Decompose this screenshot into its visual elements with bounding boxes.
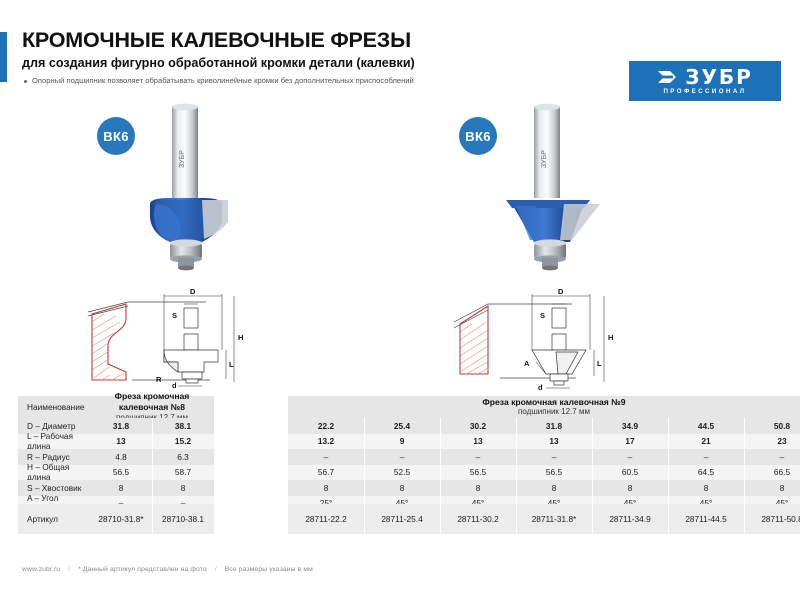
column-separator-right-2 [440,418,441,511]
footer-site[interactable]: www.zubr.ru [22,566,60,573]
svg-text:L: L [229,360,234,369]
badge-material-right: ВК6 [459,117,497,155]
cell-right-H-1: 52.5 [364,465,440,481]
svg-text:S: S [540,311,545,320]
badge-material-left: ВК6 [97,117,135,155]
cell-right-H-2: 56.5 [440,465,516,481]
footer-separator-2: / [215,566,217,573]
cell-right-S-6: 8 [744,480,800,496]
page-subtitle: для создания фигурно обработанной кромки… [22,56,415,70]
cell-left-article-1: 28710-38.1 [152,504,214,534]
cell-left-R-1: 6.3 [152,449,214,465]
cell-right-article-4: 28711-34.9 [592,504,668,534]
svg-text:d: d [172,381,177,390]
cell-right-article-2: 28711-30.2 [440,504,516,534]
column-separator-right-3 [516,418,517,511]
cell-right-L-6: 23 [744,434,800,450]
product-photo-chamfer: ЗУБР [472,100,642,290]
cell-right-H-5: 64.5 [668,465,744,481]
product-photo-roundover: ЗУБР [110,100,270,290]
column-separator-right-5 [668,418,669,511]
svg-text:ЗУБР: ЗУБР [541,150,548,168]
cell-right-L-0: 13.2 [288,434,364,450]
cell-right-article-6: 28711-50.8 [744,504,800,534]
cell-right-H-3: 56.5 [516,465,592,481]
row-label-article: Артикул [18,504,90,534]
cell-right-D-2: 30.2 [440,418,516,434]
cell-right-D-1: 25.4 [364,418,440,434]
column-separator-article-left-1 [152,504,153,534]
svg-text:A: A [524,359,530,368]
cell-left-H-1: 58.7 [152,465,214,481]
row-label-H: H – Общая длина [18,465,90,481]
cell-right-R-2: – [440,449,516,465]
cell-right-R-0: – [288,449,364,465]
cell-right-H-6: 66.5 [744,465,800,481]
column-separator-right-4 [592,418,593,511]
table-label-header: Наименование [18,396,90,418]
cell-right-D-4: 34.9 [592,418,668,434]
group-title-right: Фреза кромочная калевочная №9 [482,397,625,408]
cell-right-article-1: 28711-25.4 [364,504,440,534]
cell-left-L-1: 15.2 [152,434,214,450]
cell-right-S-2: 8 [440,480,516,496]
svg-text:H: H [608,333,613,342]
column-separator-article-right-3 [516,504,517,534]
cell-left-D-0: 31.8 [90,418,152,434]
feature-bullet: Опорный подшипник позволяет обрабатывать… [24,76,414,85]
page-header: КРОМОЧНЫЕ КАЛЕВОЧНЫЕ ФРЕЗЫ для создания … [0,28,800,90]
cell-right-D-5: 44.5 [668,418,744,434]
column-separator-article-right-6 [744,504,745,534]
cell-right-L-4: 17 [592,434,668,450]
logo-main-row: ЗУБР [657,67,753,87]
brand-logo: ЗУБР ПРОФЕССИОНАЛ [629,61,781,101]
cell-right-H-4: 60.5 [592,465,668,481]
cell-right-L-1: 9 [364,434,440,450]
cell-right-L-3: 13 [516,434,592,450]
cell-left-S-0: 8 [90,480,152,496]
svg-text:ЗУБР: ЗУБР [179,150,186,168]
logo-arrow-icon [657,67,679,87]
cell-right-article-5: 28711-44.5 [668,504,744,534]
svg-text:S: S [172,311,177,320]
column-separator-article-right-5 [668,504,669,534]
diagram-roundover: D S H L R d [86,288,266,396]
cell-left-H-0: 56.5 [90,465,152,481]
page-footer: www.zubr.ru / * Данный артикул представл… [22,566,313,573]
column-separator-article-right-4 [592,504,593,534]
cell-left-article-0: 28710-31.8* [90,504,152,534]
cell-right-D-0: 22.2 [288,418,364,434]
svg-text:D: D [558,288,564,296]
cell-right-S-5: 8 [668,480,744,496]
svg-text:d: d [538,383,543,392]
svg-text:L: L [597,359,602,368]
cell-right-R-1: – [364,449,440,465]
group-title-left: Фреза кромочная калевочная №8 [90,391,214,412]
column-separator-right-1 [364,418,365,511]
cell-right-R-5: – [668,449,744,465]
cell-right-L-2: 13 [440,434,516,450]
svg-text:H: H [238,333,243,342]
spec-tables: НаименованиеD – ДиаметрL – Рабочая длина… [18,396,782,546]
cell-right-D-3: 31.8 [516,418,592,434]
svg-text:D: D [190,288,196,296]
logo-tagline: ПРОФЕССИОНАЛ [663,88,746,95]
cell-right-S-3: 8 [516,480,592,496]
cell-right-S-0: 8 [288,480,364,496]
cell-right-R-4: – [592,449,668,465]
feature-bullet-text: Опорный подшипник позволяет обрабатывать… [32,76,414,85]
cell-right-article-3: 28711-31.8* [516,504,592,534]
column-separator-article-right-2 [440,504,441,534]
table-group-header-right: Фреза кромочная калевочная №9подшипник 1… [288,396,800,418]
footer-note-article: * Данный артикул представлен на фото [78,566,207,573]
cell-right-R-6: – [744,449,800,465]
cell-right-S-4: 8 [592,480,668,496]
svg-text:R: R [156,375,162,384]
footer-note-units: Все размеры указаны в мм [225,566,313,573]
bullet-dot-icon [24,80,27,83]
cell-right-L-5: 21 [668,434,744,450]
column-separator-right-6 [744,418,745,511]
column-separator-article-right-1 [364,504,365,534]
column-separator-left-1 [152,418,153,511]
cell-right-S-1: 8 [364,480,440,496]
cell-left-S-1: 8 [152,480,214,496]
cell-left-L-0: 13 [90,434,152,450]
page-title: КРОМОЧНЫЕ КАЛЕВОЧНЫЕ ФРЕЗЫ [22,28,411,53]
cell-right-D-6: 50.8 [744,418,800,434]
group-subtitle-right: подшипник 12.7 мм [518,407,590,417]
cell-left-D-1: 38.1 [152,418,214,434]
logo-brand-text: ЗУБР [685,67,753,87]
footer-separator-1: / [68,566,70,573]
cell-right-R-3: – [516,449,592,465]
row-label-L: L – Рабочая длина [18,434,90,450]
table-group-header-left: Фреза кромочная калевочная №8подшипник 1… [90,396,214,418]
cell-left-R-0: 4.8 [90,449,152,465]
cell-right-article-0: 28711-22.2 [288,504,364,534]
header-accent-bar [0,32,7,82]
cell-right-H-0: 56.7 [288,465,364,481]
diagram-chamfer: D S H L A d [452,288,652,396]
